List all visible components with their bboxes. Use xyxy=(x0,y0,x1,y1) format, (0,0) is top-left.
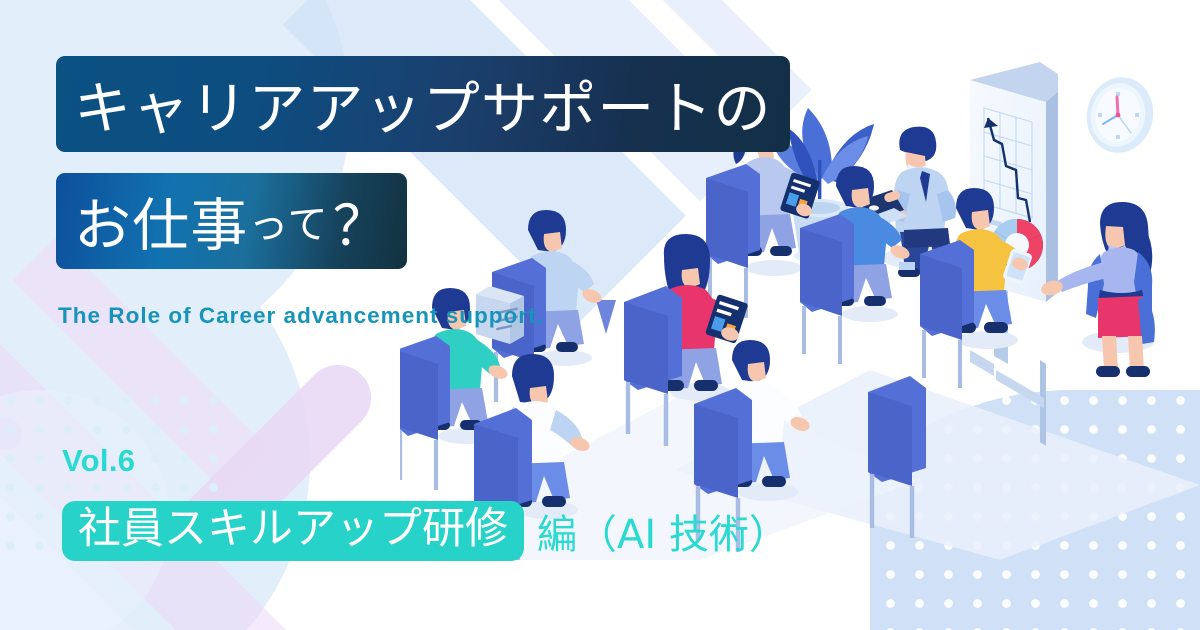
title-line-2: お仕事 って ？ xyxy=(56,173,407,269)
title-line-1-text: キャリアアップサポートの xyxy=(74,63,772,145)
wall-clock xyxy=(1080,71,1160,159)
title-line-2-small: って xyxy=(248,192,328,250)
subtitle: The Role of Career advancement support. xyxy=(58,303,544,329)
topic-badge: 社員スキルアップ研修 xyxy=(62,501,524,561)
topic-badge-suffix: 編（AI 技術） xyxy=(537,502,789,560)
title-line-2-main: お仕事 xyxy=(74,180,248,262)
title-line-1: キャリアアップサポートの xyxy=(56,56,790,152)
title-line-2-question-mark: ？ xyxy=(329,181,389,261)
volume-label: Vol.6 xyxy=(62,443,135,479)
banner-canvas: キャリアアップサポートの お仕事 って ？ The Role of Career… xyxy=(0,0,1200,630)
badge-row: 社員スキルアップ研修 編（AI 技術） xyxy=(62,501,789,561)
